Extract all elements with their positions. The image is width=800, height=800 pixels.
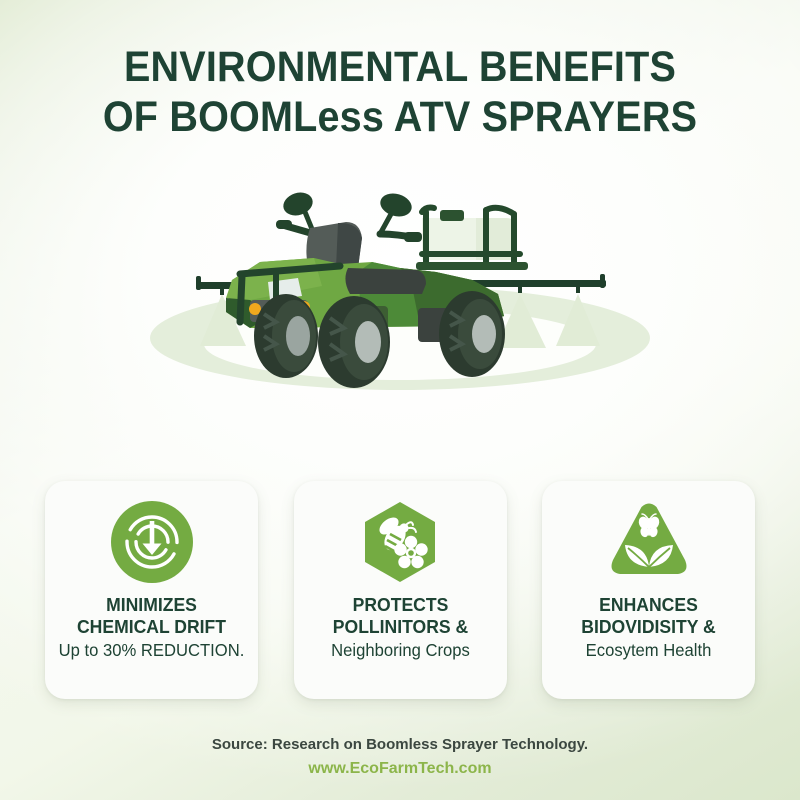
butterfly-leaves-icon — [608, 501, 690, 583]
footer: Source: Research on Boomless Sprayer Tec… — [0, 735, 800, 780]
card-head-line2: BIDOVIDISITY & — [553, 616, 744, 638]
title-line-2-mixed: ess — [317, 93, 384, 141]
infographic-poster: ENVIRONMENTAL BENEFITS OF BOOMLess ATV S… — [0, 0, 800, 800]
wheel-front-right — [318, 296, 390, 388]
title-line-1: ENVIRONMENTAL BENEFITS — [32, 42, 768, 92]
card-text-2: PROTECTS POLLINITORS & Neighboring Crops — [294, 594, 507, 662]
card-subtext: Up to 30% REDUCTION. — [56, 639, 247, 662]
card-text-3: ENHANCES BIDOVIDISITY & Ecosytem Health — [542, 594, 755, 662]
benefit-cards: MINIMIZES CHEMICAL DRIFT Up to 30% REDUC… — [45, 481, 755, 699]
wheel-rear — [439, 291, 505, 377]
card-head-line2: CHEMICAL DRIFT — [56, 616, 247, 638]
card-head-line1: PROTECTS — [305, 594, 496, 616]
page-title: ENVIRONMENTAL BENEFITS OF BOOMLess ATV S… — [0, 42, 800, 142]
card-head-line2: POLLINITORS & — [305, 616, 496, 638]
title-line-2: OF BOOMLess ATV SPRAYERS — [32, 92, 768, 142]
card-text-1: MINIMIZES CHEMICAL DRIFT Up to 30% REDUC… — [45, 594, 258, 662]
drift-reduction-icon — [111, 501, 193, 583]
card-subtext: Ecosytem Health — [553, 639, 744, 662]
title-line-2-pre: OF BOOML — [103, 93, 318, 141]
website-url[interactable]: www.EcoFarmTech.com — [0, 757, 800, 780]
wheel-front-left — [254, 294, 318, 378]
benefit-card-enhances-biodiversity[interactable]: ENHANCES BIDOVIDISITY & Ecosytem Health — [542, 481, 755, 699]
card-subtext: Neighboring Crops — [305, 639, 496, 662]
bee-flower-icon — [359, 501, 441, 583]
atv-boomless-sprayer-icon — [100, 176, 700, 406]
benefit-card-protects-pollinators[interactable]: PROTECTS POLLINITORS & Neighboring Crops — [294, 481, 507, 699]
atv-illustration — [100, 176, 700, 406]
source-note: Source: Research on Boomless Sprayer Tec… — [0, 735, 800, 755]
card-head-line1: ENHANCES — [553, 594, 744, 616]
card-head-line1: MINIMIZES — [56, 594, 247, 616]
title-line-2-post: ATV SPRAYERS — [384, 93, 697, 141]
benefit-card-minimizes-drift[interactable]: MINIMIZES CHEMICAL DRIFT Up to 30% REDUC… — [45, 481, 258, 699]
